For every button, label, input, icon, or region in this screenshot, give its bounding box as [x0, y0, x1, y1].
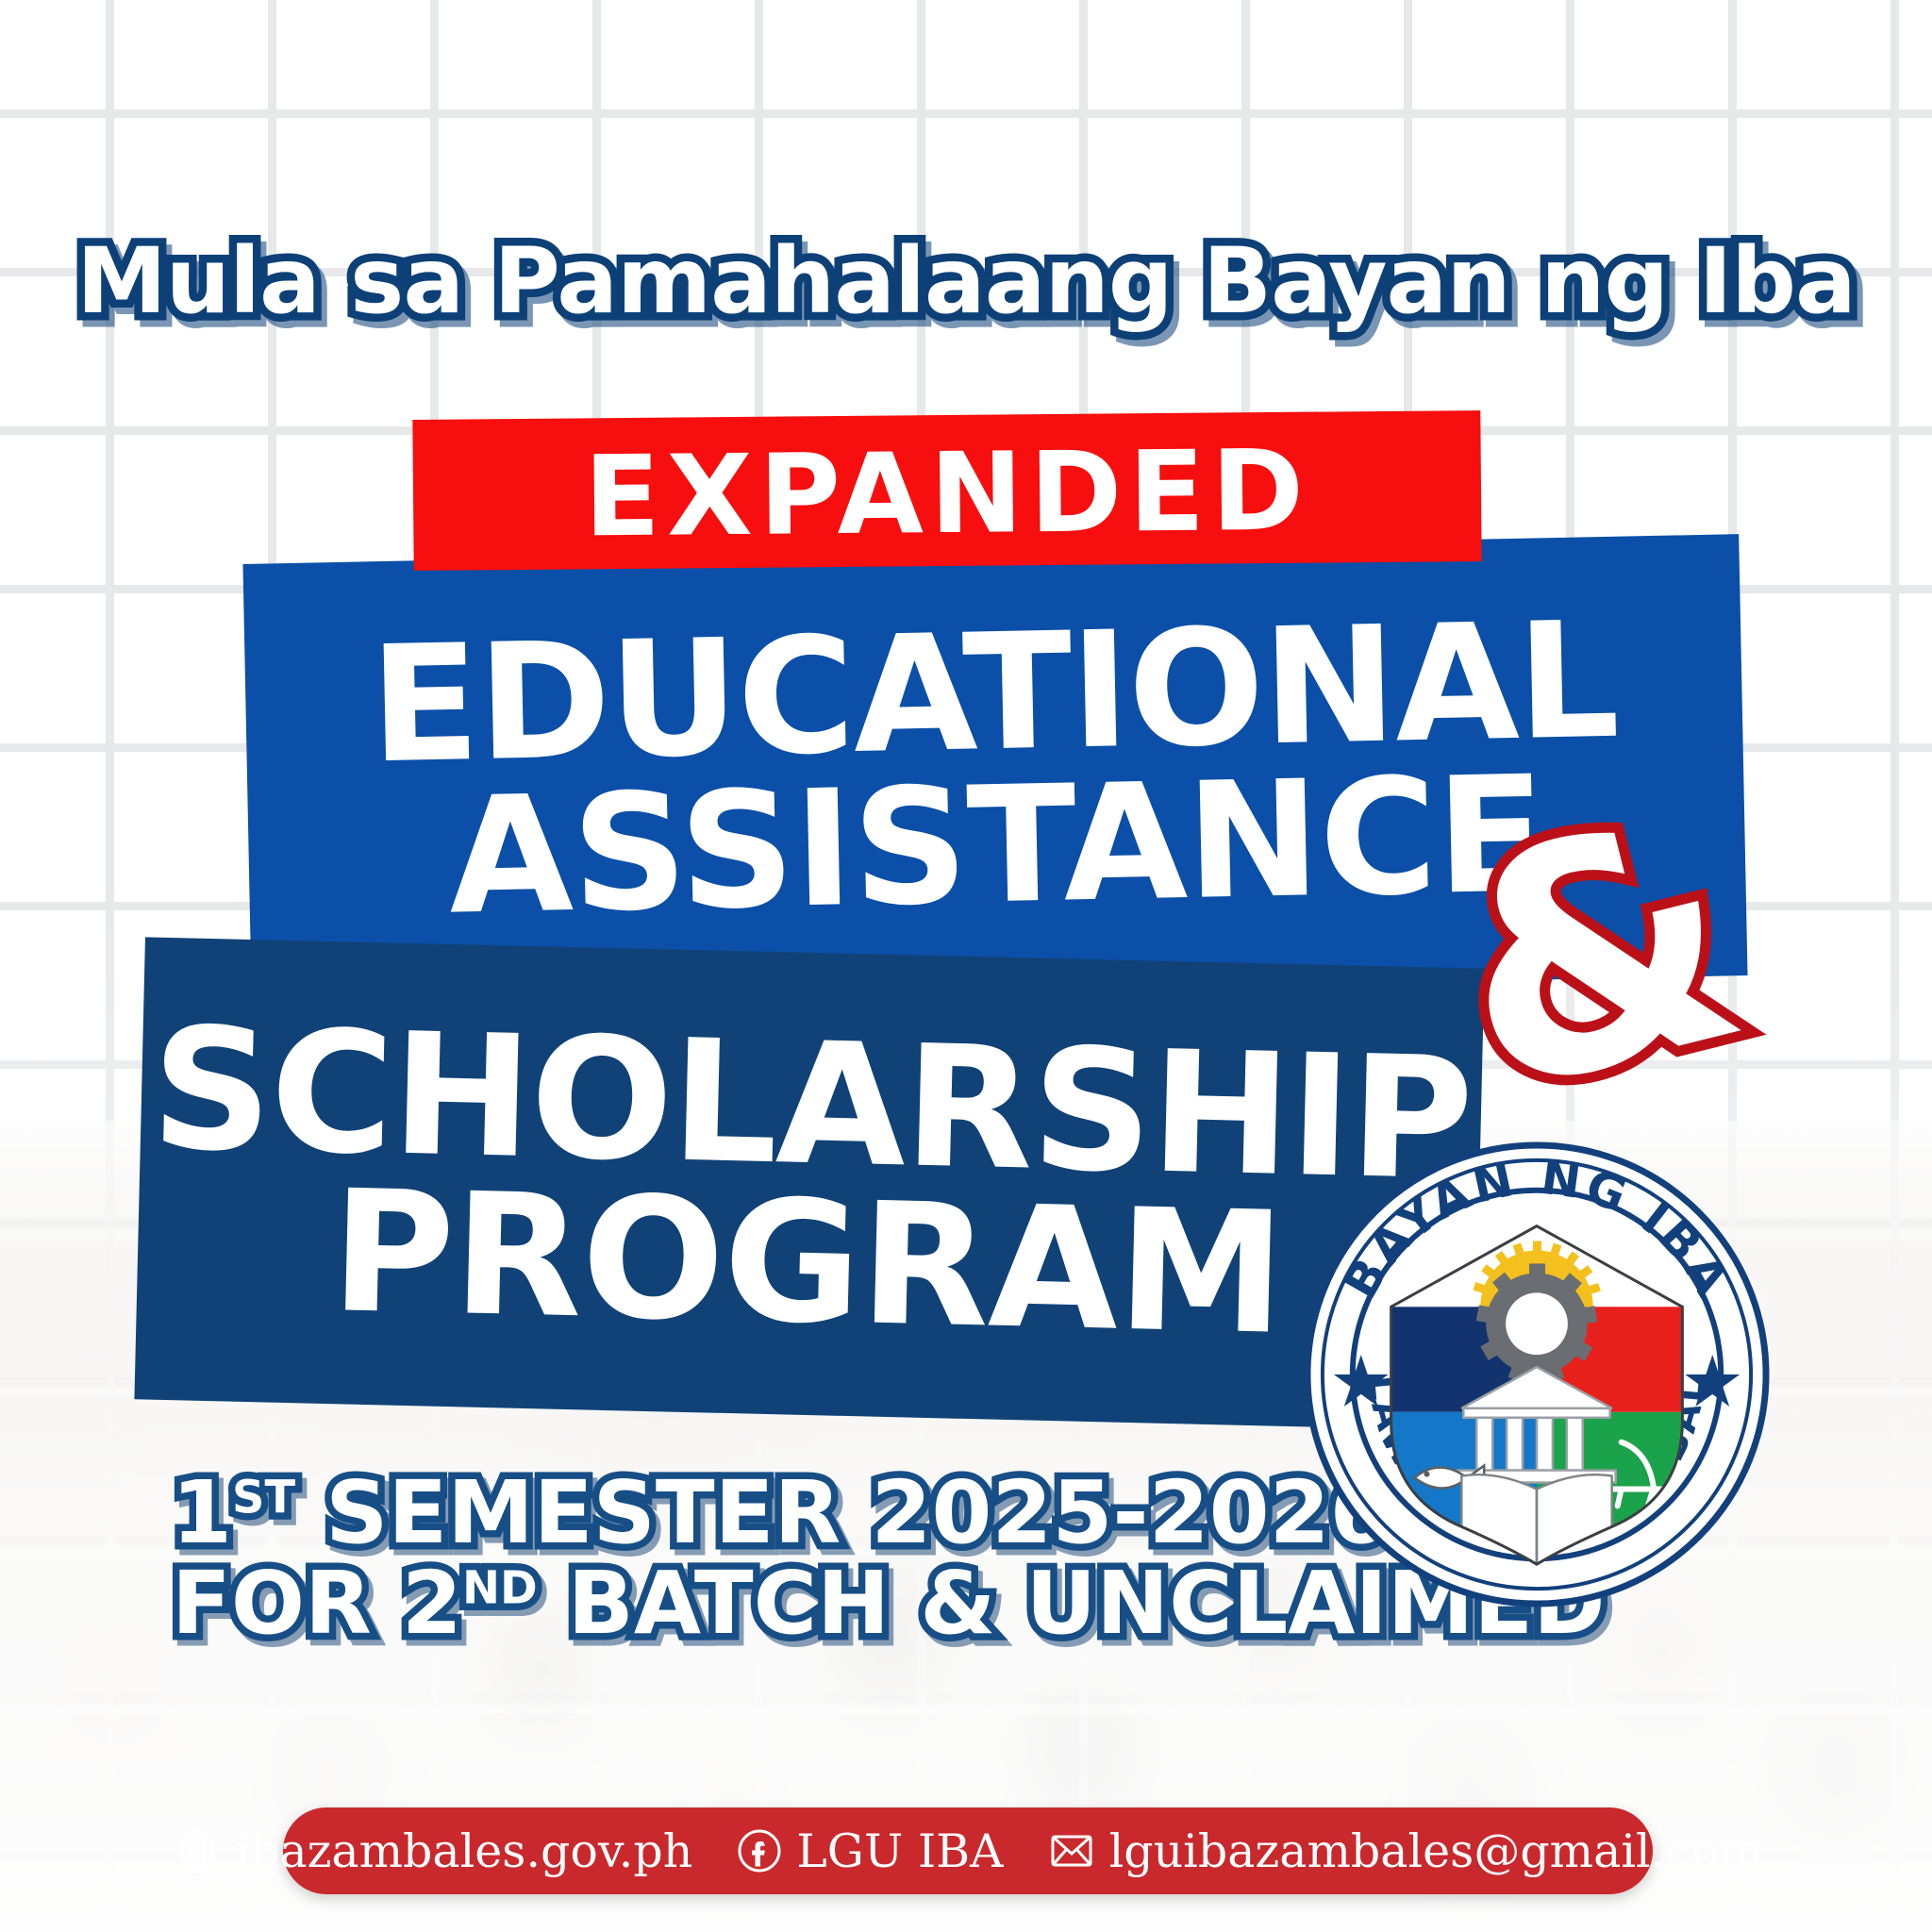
batch-ordinal-suffix: ND: [462, 1562, 538, 1614]
contact-website[interactable]: ibazambales.gov.ph: [173, 1826, 692, 1875]
semester-ordinal-number: 1: [172, 1462, 232, 1563]
contact-email-label: lguibazambales@gmail.com: [1109, 1828, 1763, 1874]
facebook-icon: [736, 1827, 783, 1874]
globe-icon: [173, 1826, 222, 1875]
contact-facebook-label: LGU IBA: [796, 1828, 1003, 1874]
contact-website-label: ibazambales.gov.ph: [235, 1828, 692, 1874]
semester-year-range: SEMESTER 2025-2026: [295, 1462, 1391, 1563]
contact-footer-bar: ibazambales.gov.ph LGU IBA lguibazambale…: [283, 1807, 1653, 1894]
contact-email[interactable]: lguibazambales@gmail.com: [1047, 1827, 1763, 1874]
batch-prefix: FOR 2: [172, 1553, 462, 1654]
title-line-assistance: ASSISTANCE: [447, 760, 1546, 931]
municipal-seal-svg: BAYAN NG IBA LALAWIGAN NG ZAMBALES: [1302, 1140, 1772, 1609]
envelope-icon: [1047, 1827, 1096, 1874]
municipal-seal: BAYAN NG IBA LALAWIGAN NG ZAMBALES: [1302, 1140, 1772, 1609]
poster-canvas: Mula sa Pamahalaang Bayan ng Iba EXPANDE…: [0, 0, 1932, 1932]
contact-facebook[interactable]: LGU IBA: [736, 1827, 1003, 1874]
expanded-badge-label: EXPANDED: [584, 435, 1311, 553]
title-line-program: PROGRAM: [329, 1174, 1286, 1352]
headline-tagline: Mula sa Pamahalaang Bayan ng Iba: [0, 228, 1932, 334]
semester-ordinal-suffix: ST: [232, 1472, 295, 1524]
scholarship-program-text: SCHOLARSHIP PROGRAM: [134, 937, 1484, 1430]
headline-text: Mula sa Pamahalaang Bayan ng Iba: [76, 228, 1856, 334]
